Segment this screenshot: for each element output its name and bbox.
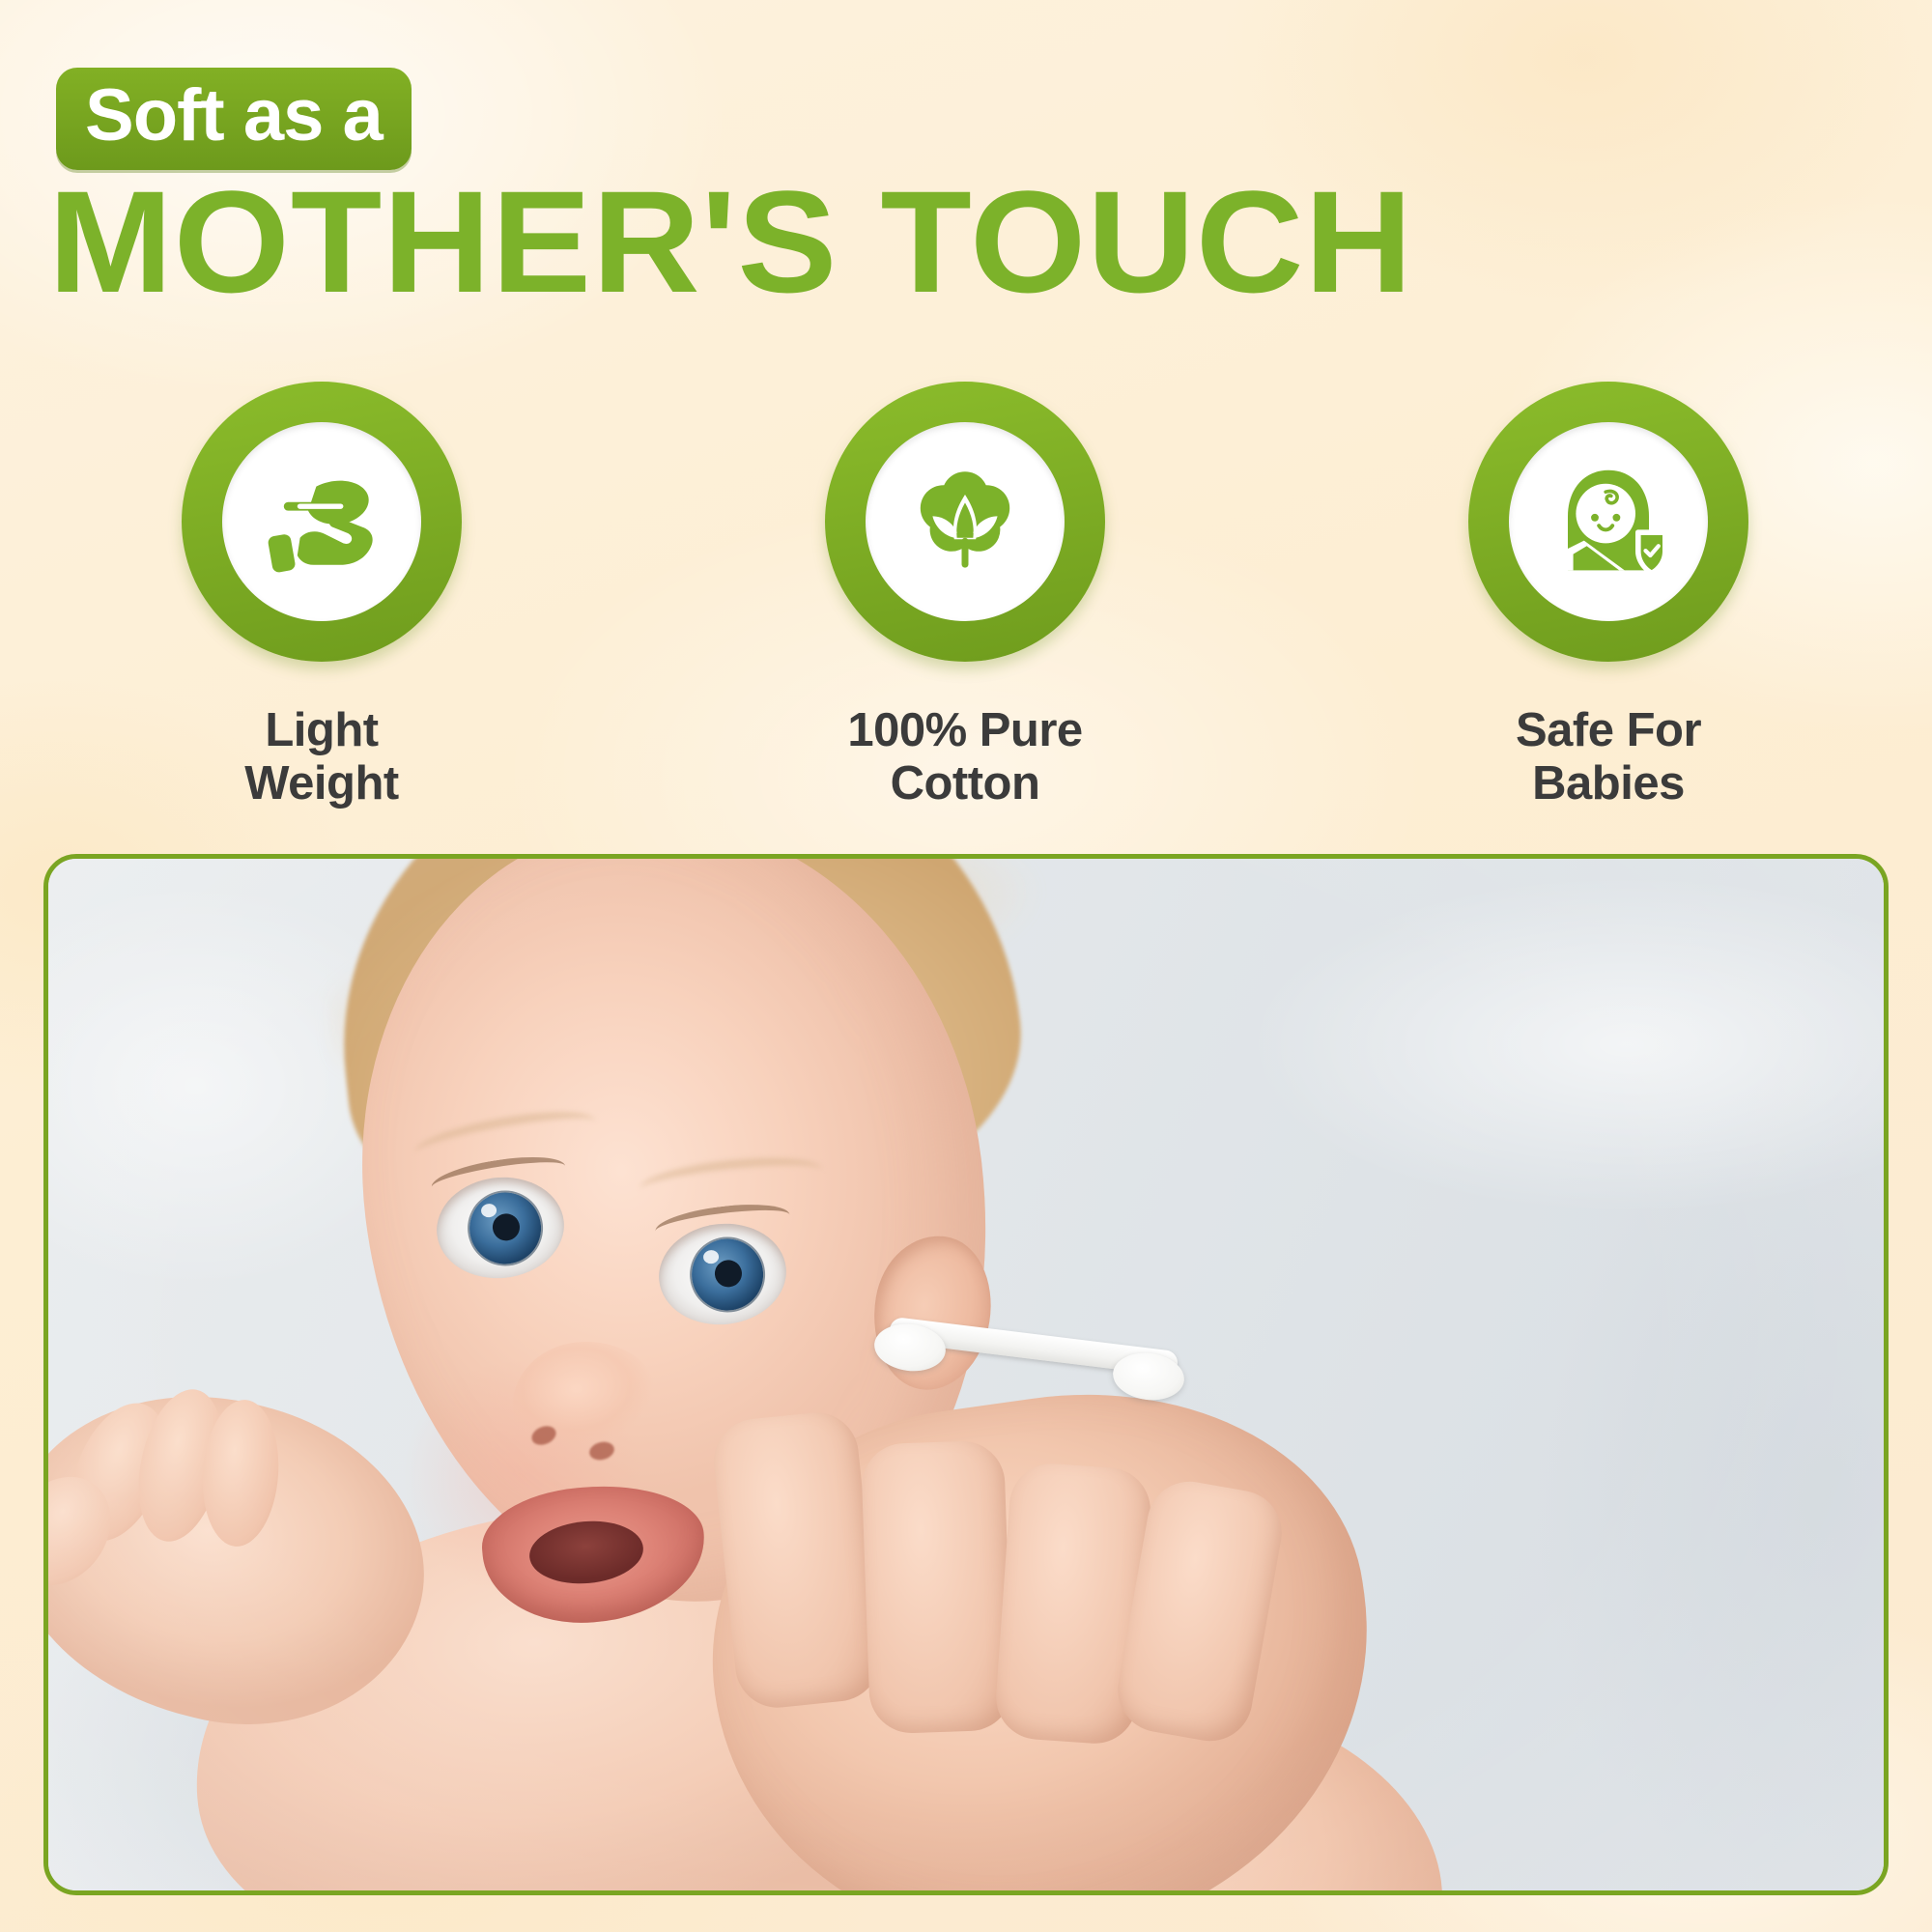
pupil [492,1212,522,1242]
feature-badge-inner [866,422,1065,621]
feature-label: Light Weight [244,704,398,810]
iris [466,1189,544,1267]
feature-label: 100% Pure Cotton [847,704,1082,810]
feature-badge [182,382,462,662]
feather-in-hand-icon [254,454,389,589]
feature-badge [825,382,1105,662]
page-title: MOTHER'S TOUCH [48,169,1413,314]
adult-finger [710,1408,885,1712]
feature-item-light-weight: Light Weight [0,382,643,810]
iris [688,1236,766,1314]
eye-glint [702,1249,719,1264]
product-photo-frame [43,854,1889,1895]
eyebrow-badge: Soft as a [56,68,412,170]
feature-badge-inner [1509,422,1708,621]
eye-glint [480,1203,497,1218]
pupil [714,1259,744,1289]
baby-photo [48,859,1884,1890]
feature-item-safe-for-babies: Safe For Babies [1287,382,1930,810]
feature-badge-inner [222,422,421,621]
feature-badge [1468,382,1748,662]
feature-list: Light Weight [0,382,1932,810]
promo-banner: Soft as a MOTHER'S TOUCH [0,0,1932,1932]
cotton-boll-icon [897,454,1033,589]
feature-item-pure-cotton: 100% Pure Cotton [643,382,1287,810]
feature-label: Safe For Babies [1516,704,1701,810]
adult-finger [861,1440,1013,1735]
swaddled-baby-shield-icon [1541,454,1676,589]
